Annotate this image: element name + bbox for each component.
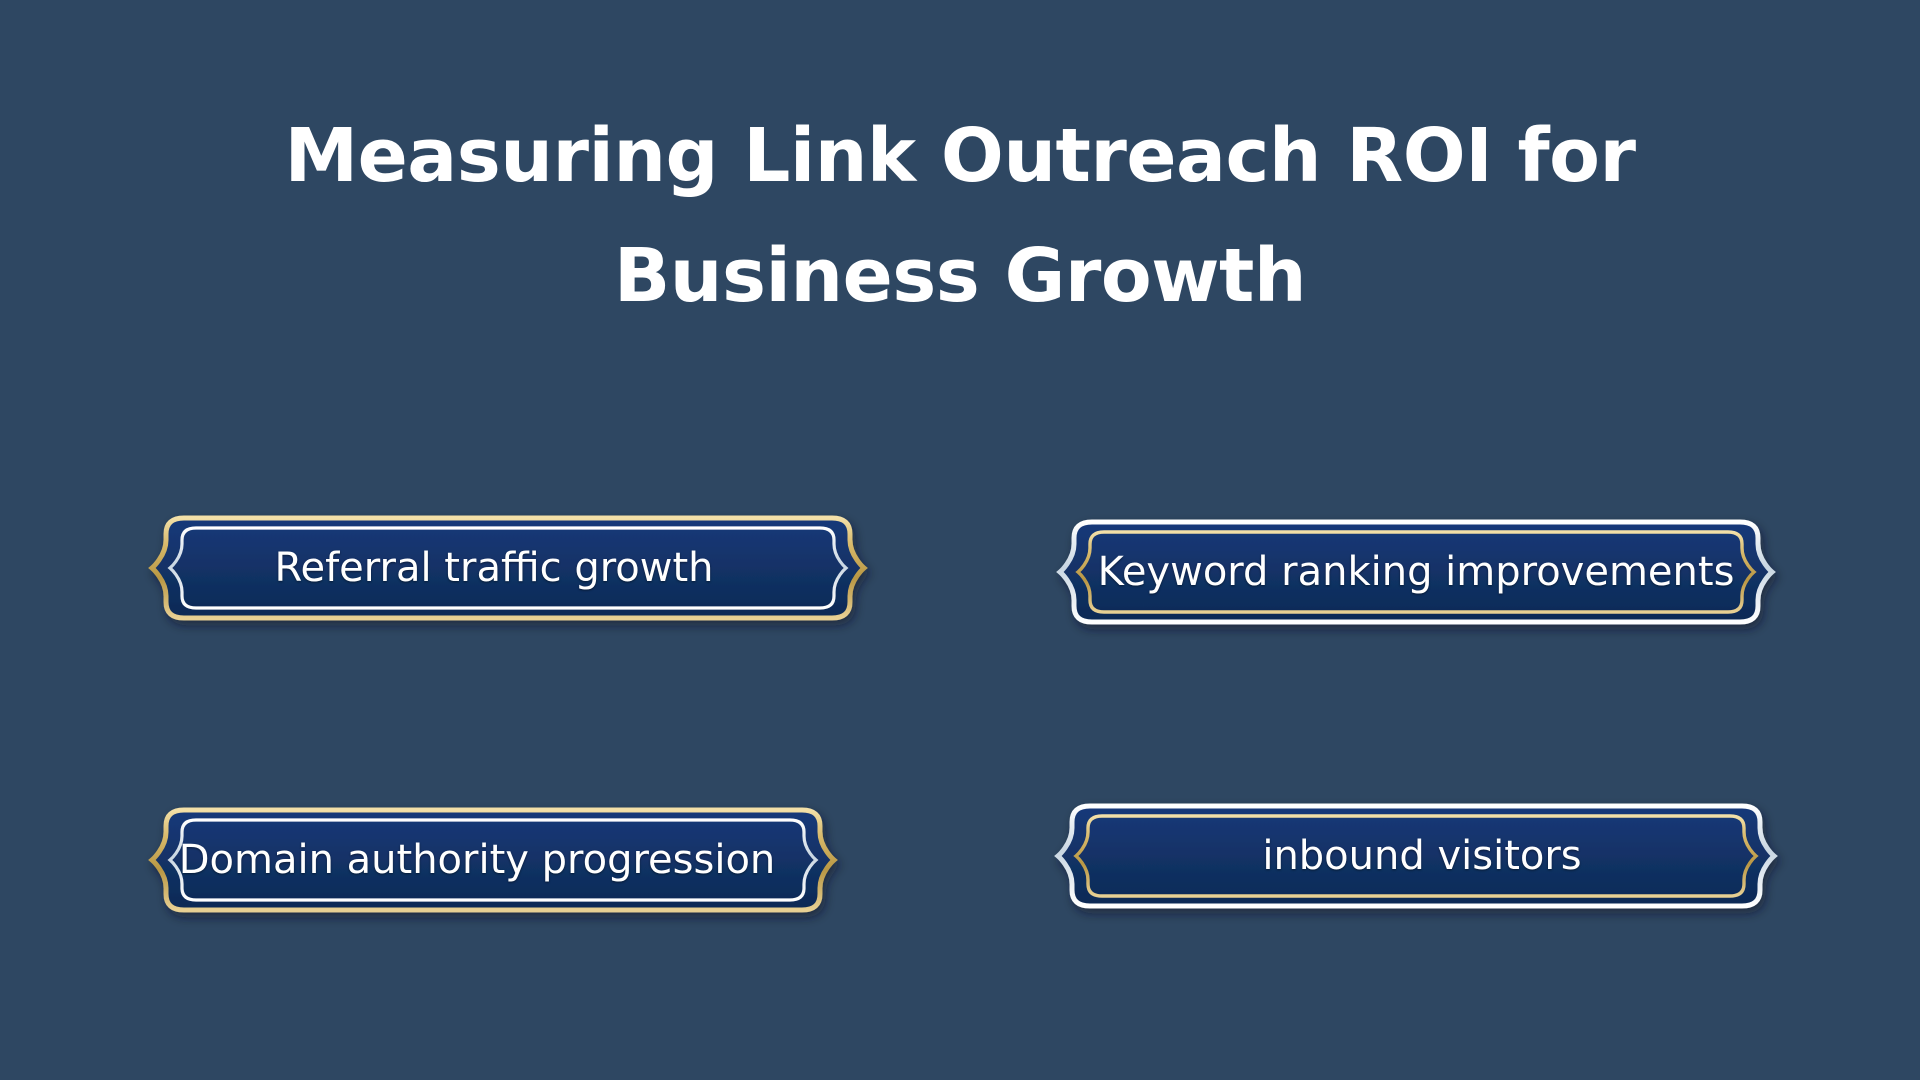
pill-item-domain-authority-progression[interactable]: Domain authority progression — [122, 804, 864, 916]
pill-label: Referral traffic growth — [248, 546, 739, 590]
pill-label: inbound visitors — [1236, 834, 1607, 878]
pill-item-keyword-ranking-improvements[interactable]: Keyword ranking improvements — [1030, 516, 1802, 628]
pill-item-inbound-visitors[interactable]: inbound visitors — [1028, 800, 1804, 912]
page-title-line-1: Measuring Link Outreach ROI for — [180, 96, 1740, 216]
pill-item-referral-traffic-growth[interactable]: Referral traffic growth — [122, 512, 894, 624]
page-title-line-2: Business Growth — [180, 216, 1740, 336]
pill-grid: Referral traffic growth — [0, 500, 1920, 920]
pill-label: Domain authority progression — [153, 838, 802, 882]
page-title: Measuring Link Outreach ROI for Business… — [0, 96, 1920, 336]
slide-canvas: Measuring Link Outreach ROI for Business… — [0, 0, 1920, 1080]
pill-label: Keyword ranking improvements — [1072, 550, 1761, 594]
